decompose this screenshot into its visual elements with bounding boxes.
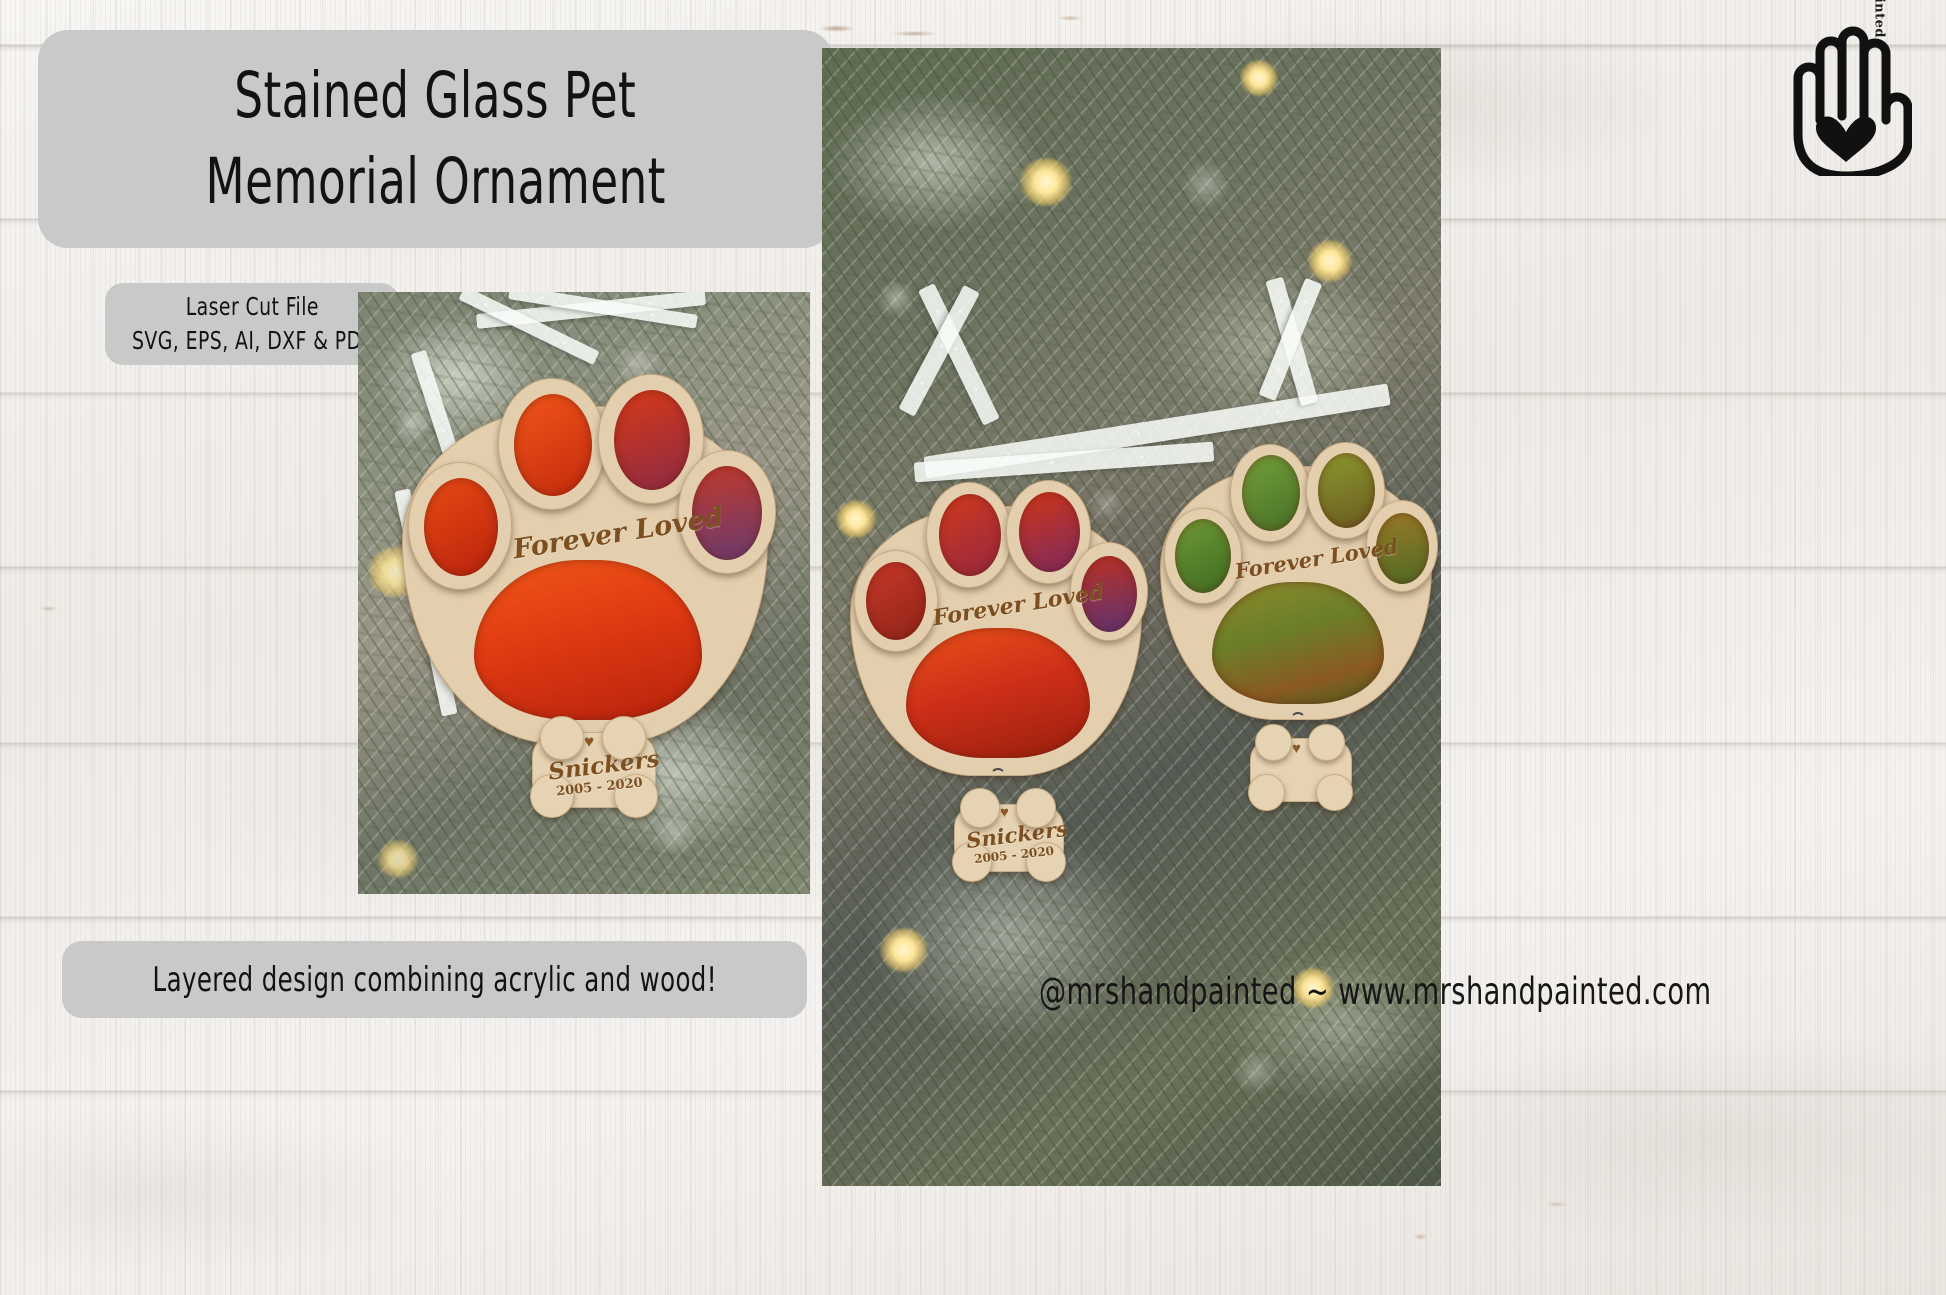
string-light-bokeh [1020,158,1072,206]
pet-name-tag: ♥ [1246,720,1356,814]
paw-ornament: Forever Loved [402,344,768,744]
acrylic-inset-toe-2 [1242,455,1300,531]
logo-vertical-text: Mrs. Hand Painted [1871,0,1886,38]
acrylic-inset-main-pad [1212,582,1384,704]
string-light-bokeh [378,840,418,878]
brand-logo: Mrs. Hand Painted [1776,16,1912,176]
string-light-bokeh [880,928,928,972]
title-line-1: Stained Glass Pet [234,53,636,139]
footer-credit-text: @mrshandpainted ~ www.mrshandpainted.com [1039,970,1712,1013]
tag-lobe [540,716,584,760]
product-photo-left: Forever Loved ♥ Snickers 2005 - 2020 [358,292,810,894]
footer: @mrshandpainted ~ www.mrshandpainted.com [830,968,1920,1014]
tag-lobe [960,788,1000,828]
acrylic-inset-main-pad [906,628,1090,758]
string-light-bokeh [1308,240,1352,282]
product-photo-right: Forever Loved ♥ Snickers 2005 - 2020 For… [822,48,1441,1186]
title-panel: Stained Glass Pet Memorial Ornament [38,30,833,248]
acrylic-inset-toe-3 [1019,492,1080,572]
tag-lobe [1255,724,1292,761]
tag-lobe [1248,774,1285,811]
laser-cut-file-label: Laser Cut File [185,290,318,325]
title-line-2: Memorial Ornament [205,139,665,225]
tag-hook [990,768,1006,784]
pet-name-tag: ♥ Snickers 2005 - 2020 [950,784,1068,884]
pet-name-tag: ♥ Snickers 2005 - 2020 [528,710,660,820]
hand-with-heart-icon [1776,16,1912,176]
caption-panel: Layered design combining acrylic and woo… [62,941,807,1018]
heart-icon: ♥ [1292,742,1308,756]
file-formats-label: SVG, EPS, AI, DXF & PDF [132,324,373,359]
file-format-badge: Laser Cut File SVG, EPS, AI, DXF & PDF [105,283,399,365]
tag-lobe [1316,774,1353,811]
caption-text: Layered design combining acrylic and woo… [152,960,716,1000]
acrylic-inset-toe-2 [939,494,1001,576]
paw-ornament: Forever Loved [1160,420,1432,720]
acrylic-inset-toe-1 [1175,519,1231,593]
acrylic-inset-toe-3 [1318,453,1375,528]
heart-icon [1816,116,1876,162]
acrylic-inset-toe-1 [424,478,498,576]
acrylic-inset-toe-3 [614,390,690,490]
heart-icon: ♥ [584,734,602,750]
string-light-bokeh [1240,60,1278,96]
acrylic-inset-toe-1 [866,562,926,640]
acrylic-inset-toe-2 [514,394,592,496]
heart-icon: ♥ [1000,806,1016,820]
paw-ornament: Forever Loved [850,456,1142,776]
tag-lobe [1308,724,1345,761]
